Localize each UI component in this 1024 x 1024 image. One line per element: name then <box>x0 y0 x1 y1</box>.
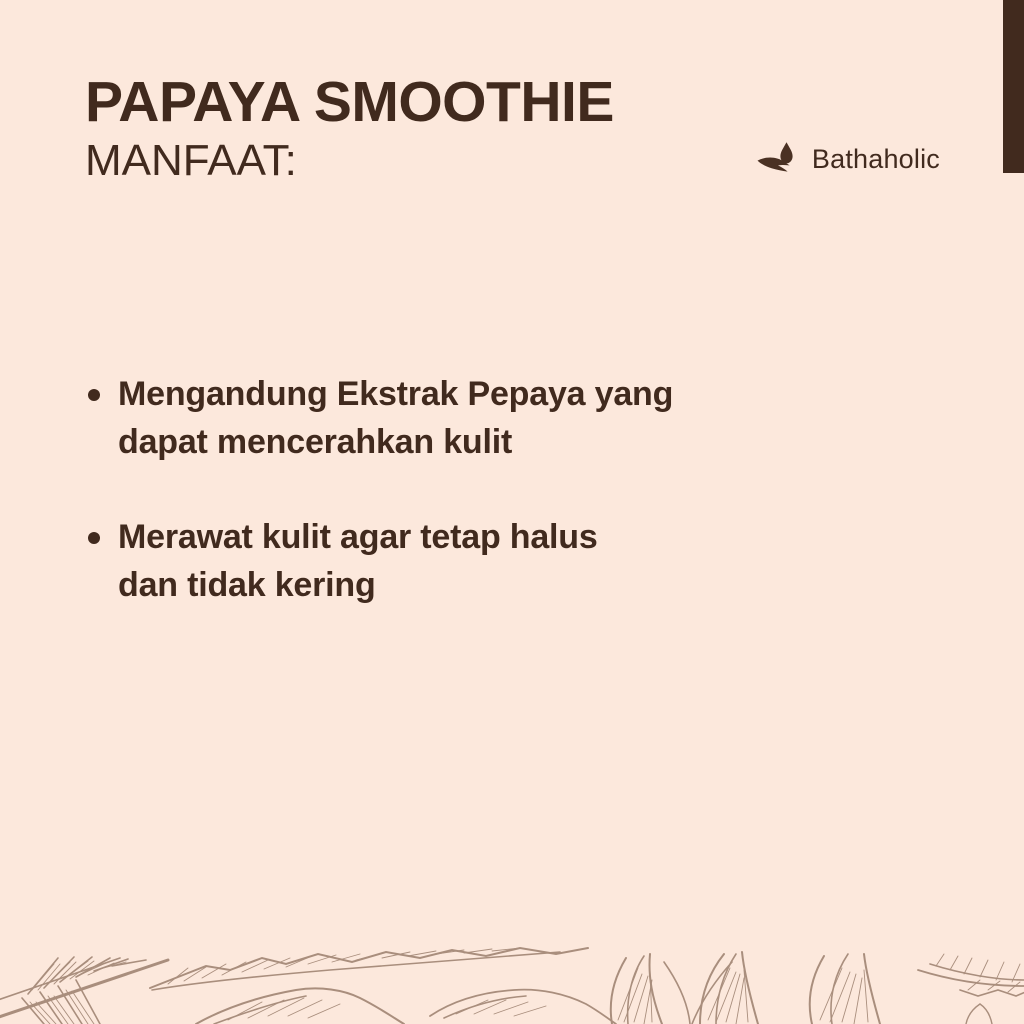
brand-logo: Bathaholic <box>756 138 940 180</box>
bullet-dot-icon <box>88 389 100 401</box>
accent-bar <box>1003 0 1024 173</box>
header: PAPAYA SMOOTHIE MANFAAT: <box>85 74 705 183</box>
benefit-item: Mengandung Ekstrak Pepaya yang dapat men… <box>88 370 828 467</box>
benefit-item: Merawat kulit agar tetap halus dan tidak… <box>88 513 828 610</box>
page-subtitle: MANFAAT: <box>85 139 705 183</box>
promo-poster: PAPAYA SMOOTHIE MANFAAT: Bathaholic Meng… <box>0 0 1024 1024</box>
botanical-decoration <box>0 924 1024 1024</box>
benefit-text: Merawat kulit agar tetap halus dan tidak… <box>118 513 828 610</box>
page-title: PAPAYA SMOOTHIE <box>85 74 705 131</box>
brand-name: Bathaholic <box>812 146 940 173</box>
benefits-list: Mengandung Ekstrak Pepaya yang dapat men… <box>88 370 828 609</box>
water-drop-leaf-icon <box>756 138 802 180</box>
bullet-dot-icon <box>88 532 100 544</box>
benefit-text: Mengandung Ekstrak Pepaya yang dapat men… <box>118 370 828 467</box>
